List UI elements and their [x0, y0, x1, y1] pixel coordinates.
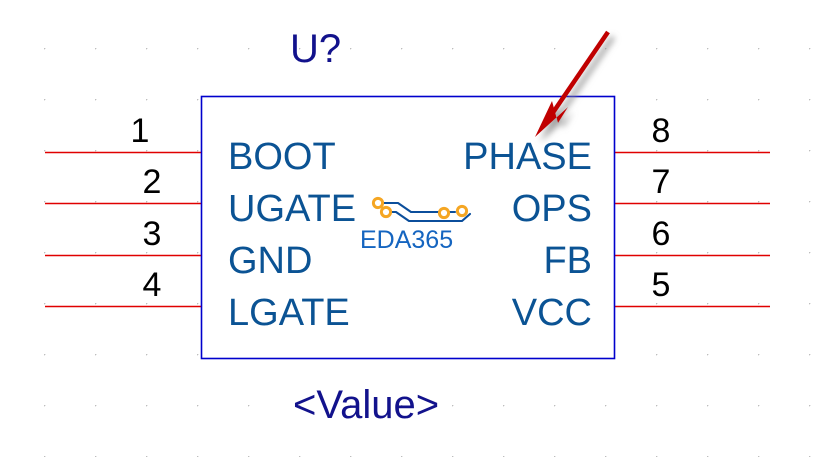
watermark-text: EDA365: [360, 226, 453, 254]
pin-wires-right: [615, 153, 770, 307]
schematic-symbol-drawing: U? <Value> 1 2 3 4 8 7 6 5 BOOT UGATE GN…: [0, 0, 837, 457]
pin-label-gnd[interactable]: GND: [228, 240, 312, 282]
pin-label-ugate[interactable]: UGATE: [228, 188, 356, 230]
pin-number-4: 4: [143, 266, 162, 304]
pin-label-vcc[interactable]: VCC: [512, 292, 592, 334]
value-text[interactable]: <Value>: [293, 383, 439, 427]
pin-number-2: 2: [143, 163, 162, 201]
pin-number-1: 1: [131, 112, 150, 150]
designator-text[interactable]: U?: [290, 27, 341, 71]
pin-number-8: 8: [652, 112, 671, 150]
pin-label-boot[interactable]: BOOT: [228, 136, 336, 178]
pin-number-3: 3: [143, 215, 162, 253]
pin-number-7: 7: [652, 163, 671, 201]
pin-number-6: 6: [652, 215, 671, 253]
pin-label-lgate[interactable]: LGATE: [228, 292, 350, 334]
schematic-canvas: U? <Value> 1 2 3 4 8 7 6 5 BOOT UGATE GN…: [0, 0, 837, 457]
pin-label-phase[interactable]: PHASE: [463, 136, 592, 178]
pin-numbers-right: 8 7 6 5: [652, 112, 671, 304]
pin-label-fb[interactable]: FB: [543, 240, 592, 282]
pin-label-ops[interactable]: OPS: [512, 188, 592, 230]
pin-wires-left: [45, 153, 201, 307]
pin-number-5: 5: [652, 266, 671, 304]
pin-numbers-left: 1 2 3 4: [131, 112, 162, 304]
